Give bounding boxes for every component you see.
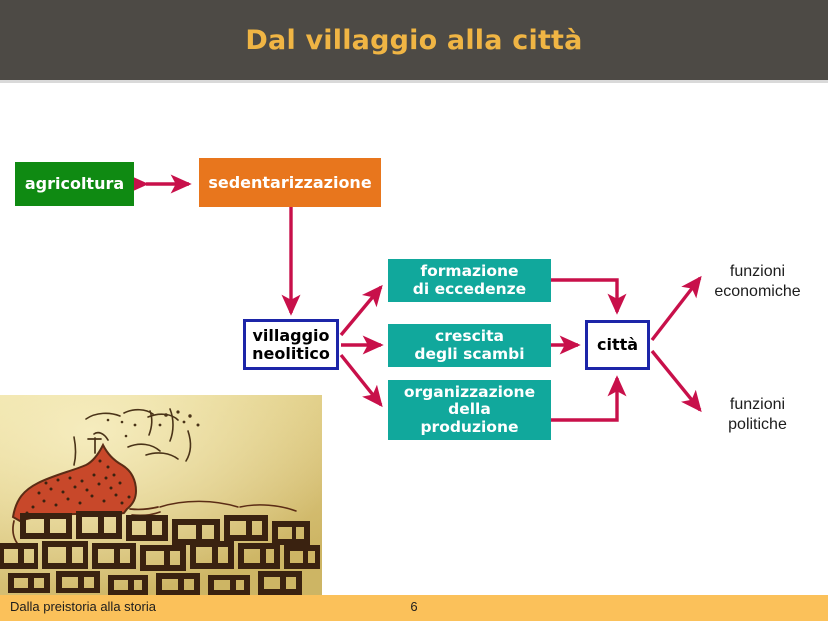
node-sedentarizzazione-label: sedentarizzazione <box>208 174 371 192</box>
node-formazione-di-eccedenze[interactable]: formazionedi eccedenze <box>388 259 551 302</box>
edge-organizzazione-citta <box>551 378 617 420</box>
edge-villaggio-formazione <box>341 287 381 335</box>
footer-page-number: 6 <box>0 599 828 614</box>
edge-villaggio-organizzazione <box>341 355 381 405</box>
node-sedentarizzazione[interactable]: sedentarizzazione <box>199 158 381 207</box>
node-formazione-di-eccedenze-label: formazionedi eccedenze <box>413 263 526 298</box>
page-title: Dal villaggio alla città <box>245 25 582 56</box>
node-citta[interactable]: città <box>585 320 650 370</box>
slide-body: agricoltura sedentarizzazione villaggion… <box>0 83 828 595</box>
catalhoyuk-wall-painting-image <box>0 395 322 597</box>
label-funzioni-economiche-text: funzionieconomiche <box>714 263 800 300</box>
label-funzioni-economiche: funzionieconomiche <box>690 262 825 302</box>
node-crescita-degli-scambi-label: crescitadegli scambi <box>414 328 524 363</box>
node-villaggio-neolitico-label: villaggioneolitico <box>252 327 330 363</box>
node-citta-label: città <box>597 336 638 354</box>
node-organizzazione-della-produzione[interactable]: organizzazionedellaproduzione <box>388 380 551 440</box>
label-funzioni-politiche-text: funzionipolitiche <box>728 396 787 433</box>
node-crescita-degli-scambi[interactable]: crescitadegli scambi <box>388 324 551 367</box>
catalhoyuk-illustration-svg <box>0 395 322 597</box>
edge-formazione-citta <box>551 280 617 312</box>
node-villaggio-neolitico[interactable]: villaggioneolitico <box>243 319 339 370</box>
slide-header: Dal villaggio alla città <box>0 0 828 80</box>
slide-footer: Dalla preistoria alla storia 6 <box>0 595 828 621</box>
node-agricoltura-label: agricoltura <box>25 175 124 193</box>
label-funzioni-politiche: funzionipolitiche <box>690 395 825 435</box>
node-agricoltura[interactable]: agricoltura <box>15 162 134 206</box>
node-organizzazione-della-produzione-label: organizzazionedellaproduzione <box>404 384 535 436</box>
